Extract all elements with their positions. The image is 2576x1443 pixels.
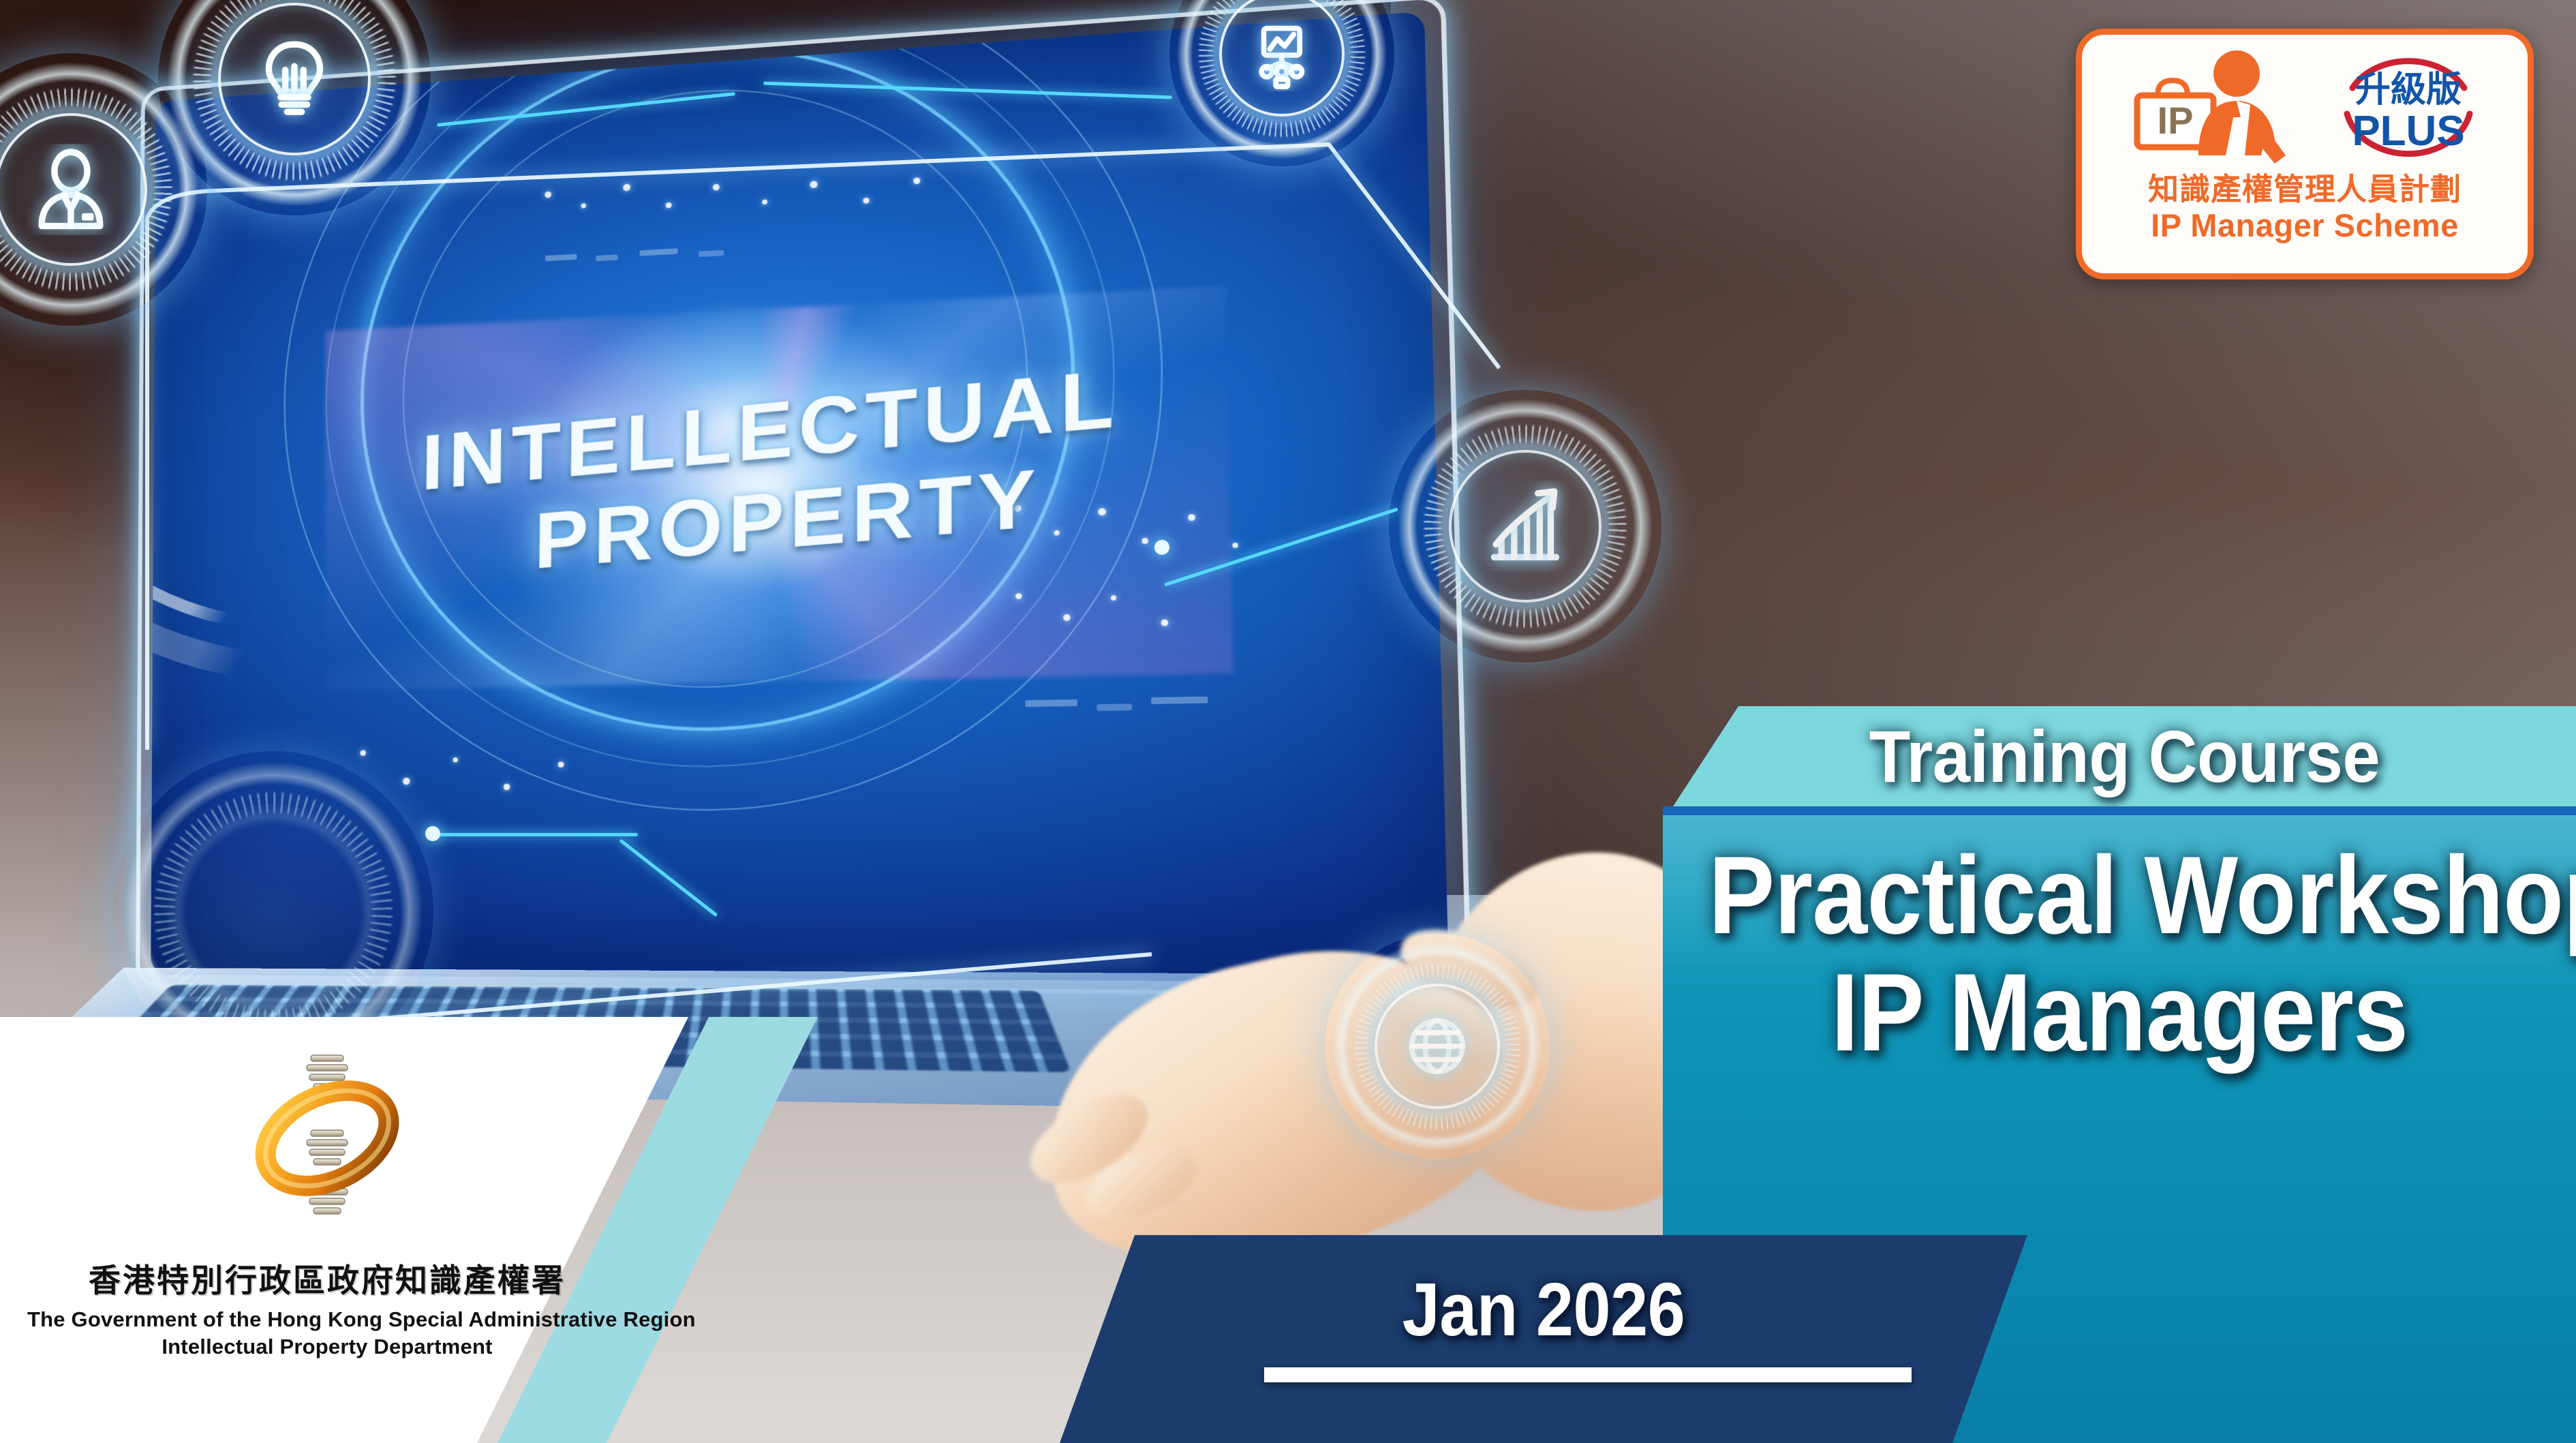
globe-icon [1375, 984, 1501, 1110]
badge-chinese-title: 知識產權管理人員計劃 [2094, 174, 2515, 204]
hud-bubble-growth [1389, 390, 1661, 663]
ip-briefcase-person-icon: IP [2117, 46, 2321, 173]
event-date: Jan 2026 [1108, 1251, 1979, 1367]
hud-connector-4 [433, 833, 638, 836]
plus-upgrade-icon: 升級版 PLUS [2324, 48, 2493, 171]
growth-chart-icon [1449, 450, 1601, 603]
hksar-ipd-logo: 香港特別行政區政府知識產權署 The Government of the Hon… [27, 1043, 627, 1359]
hud-bubble-globe [1325, 934, 1550, 1159]
eyebrow-label: Training Course [1709, 706, 2540, 806]
hud-node-1 [425, 826, 440, 841]
badge-english-title: IP Manager Scheme [2094, 209, 2515, 242]
user-person-icon [0, 113, 147, 266]
logo-english-line1: The Government of the Hong Kong Special … [27, 1307, 627, 1332]
date-underline-rule [1264, 1367, 1912, 1382]
page-title-line2: IP Managers [1708, 956, 2530, 1070]
svg-text:升級版: 升級版 [2355, 70, 2462, 110]
lightbulb-icon [218, 3, 371, 155]
badge-graphics: IP 升級版 PLUS [2094, 44, 2515, 175]
ip-manager-scheme-badge: IP 升級版 PLUS 知識產權管理人員計劃 IP Manager Scheme [2076, 29, 2534, 279]
ipd-ring-mark-icon [225, 1043, 429, 1247]
hud-node-2 [1154, 540, 1169, 555]
promotional-banner: INTELLECTUAL PROPERTY [0, 0, 2576, 1443]
page-title-line1: Practical Workshop for [1708, 838, 2530, 953]
svg-text:IP: IP [2158, 99, 2194, 142]
logo-english-line2: Intellectual Property Department [27, 1335, 627, 1359]
svg-text:PLUS: PLUS [2352, 108, 2464, 155]
logo-chinese-text: 香港特別行政區政府知識產權署 [27, 1254, 627, 1301]
band-divider-rule [1663, 806, 2576, 815]
page-title: Practical Workshop for IP Managers [1663, 838, 2576, 1071]
